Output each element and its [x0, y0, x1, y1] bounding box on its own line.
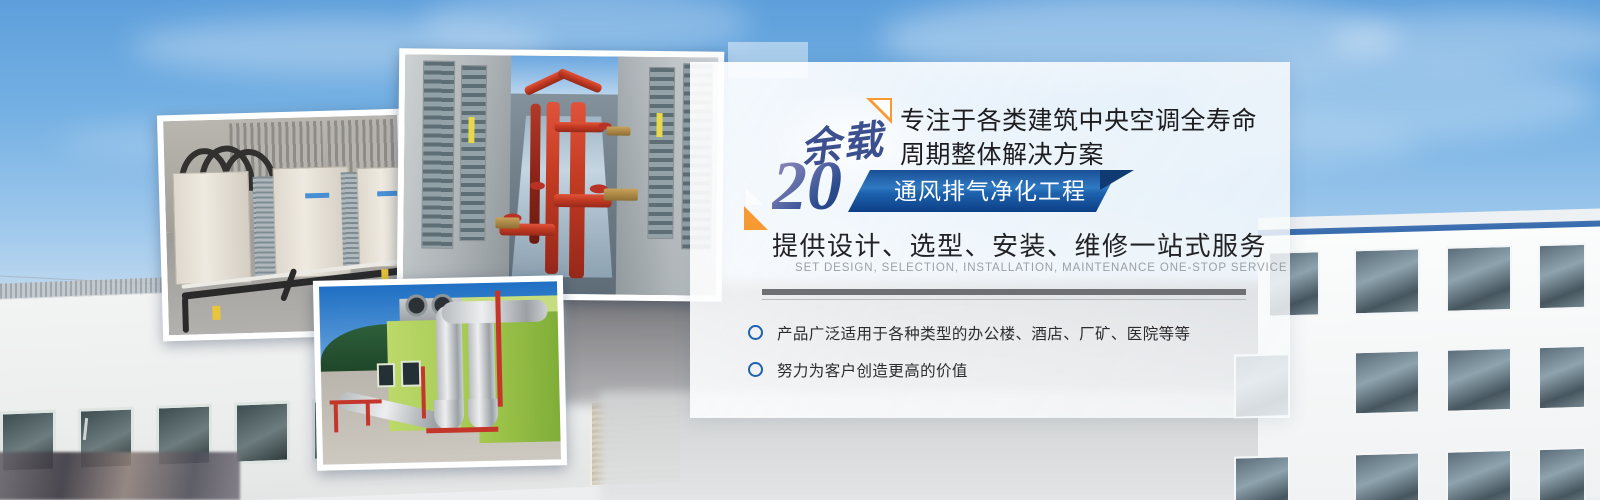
window: [1446, 245, 1512, 313]
right-office-building: [1258, 226, 1600, 500]
window: [1538, 447, 1586, 500]
chiller-bank-left: [403, 54, 512, 293]
insulated-duct-rooftop-photo: [313, 275, 567, 471]
window: [377, 363, 396, 387]
bullet-text: 努力为客户创造更高的价值: [777, 359, 968, 381]
headline-line-2: 周期整体解决方案: [900, 138, 1270, 172]
brass-fitting: [606, 126, 630, 135]
window: [1354, 451, 1420, 500]
brass-fitting: [604, 188, 638, 200]
window: [234, 400, 290, 464]
hero-banner: 余载 20 专注于各类建筑中央空调全寿命 周期整体解决方案 通风排气净化工程 提…: [0, 0, 1600, 500]
condenser-coil: [459, 65, 487, 241]
years-number: 20: [772, 152, 842, 222]
headline: 专注于各类建筑中央空调全寿命 周期整体解决方案: [900, 104, 1270, 172]
ribbon-tail: [1100, 170, 1134, 190]
red-pipe-branch: [554, 122, 604, 133]
ring-bullet-icon: [748, 362, 763, 377]
window: [1446, 449, 1512, 500]
outdoor-unit: [356, 166, 403, 268]
brand-logo: [305, 193, 329, 199]
insulated-pipe: [182, 297, 189, 333]
service-subline: 提供设计、选型、安装、维修一站式服务: [772, 226, 1267, 263]
red-chilled-water-piping-photo: [397, 48, 725, 301]
feature-bullet-list: 产品广泛适用于各种类型的办公楼、酒店、厂矿、医院等等 努力为客户创造更高的价值: [748, 314, 1258, 388]
divider-hairline: [762, 299, 1246, 300]
window: [1446, 347, 1512, 413]
parked-cars: [0, 452, 240, 500]
window: [1354, 349, 1420, 415]
window: [1354, 247, 1420, 315]
brass-fitting: [495, 217, 519, 228]
headline-line-1: 专注于各类建筑中央空调全寿命: [900, 104, 1270, 138]
unit-label: [656, 113, 662, 137]
outdoor-unit: [173, 171, 252, 285]
red-support: [334, 404, 339, 432]
valve-handwheel: [530, 182, 545, 190]
bullet-text: 产品广泛适用于各种类型的办公楼、酒店、厂矿、医院等等: [777, 322, 1190, 344]
pipe-marker: [212, 306, 220, 320]
condenser-coil: [647, 67, 675, 239]
window: [1538, 345, 1586, 410]
ribbon-label: 通风排气净化工程: [894, 178, 1086, 204]
unit-label: [468, 117, 474, 143]
corner-bracket-icon: [866, 98, 892, 124]
service-ribbon: 通风排气净化工程: [848, 170, 1148, 212]
window: [1234, 455, 1290, 500]
brand-logo: [377, 191, 397, 197]
corner-bracket-icon: [744, 206, 768, 230]
ring-bullet-icon: [748, 325, 763, 340]
window: [401, 360, 422, 386]
divider-bar: [762, 289, 1246, 295]
outdoor-unit: [272, 166, 351, 278]
condenser-coil: [421, 61, 455, 249]
english-subline: SET DESIGN, SELECTION, INSTALLATION, MAI…: [795, 262, 1287, 274]
list-item: 努力为客户创造更高的价值: [748, 351, 1258, 388]
window: [1538, 243, 1586, 310]
list-item: 产品广泛适用于各种类型的办公楼、酒店、厂矿、医院等等: [748, 314, 1258, 351]
